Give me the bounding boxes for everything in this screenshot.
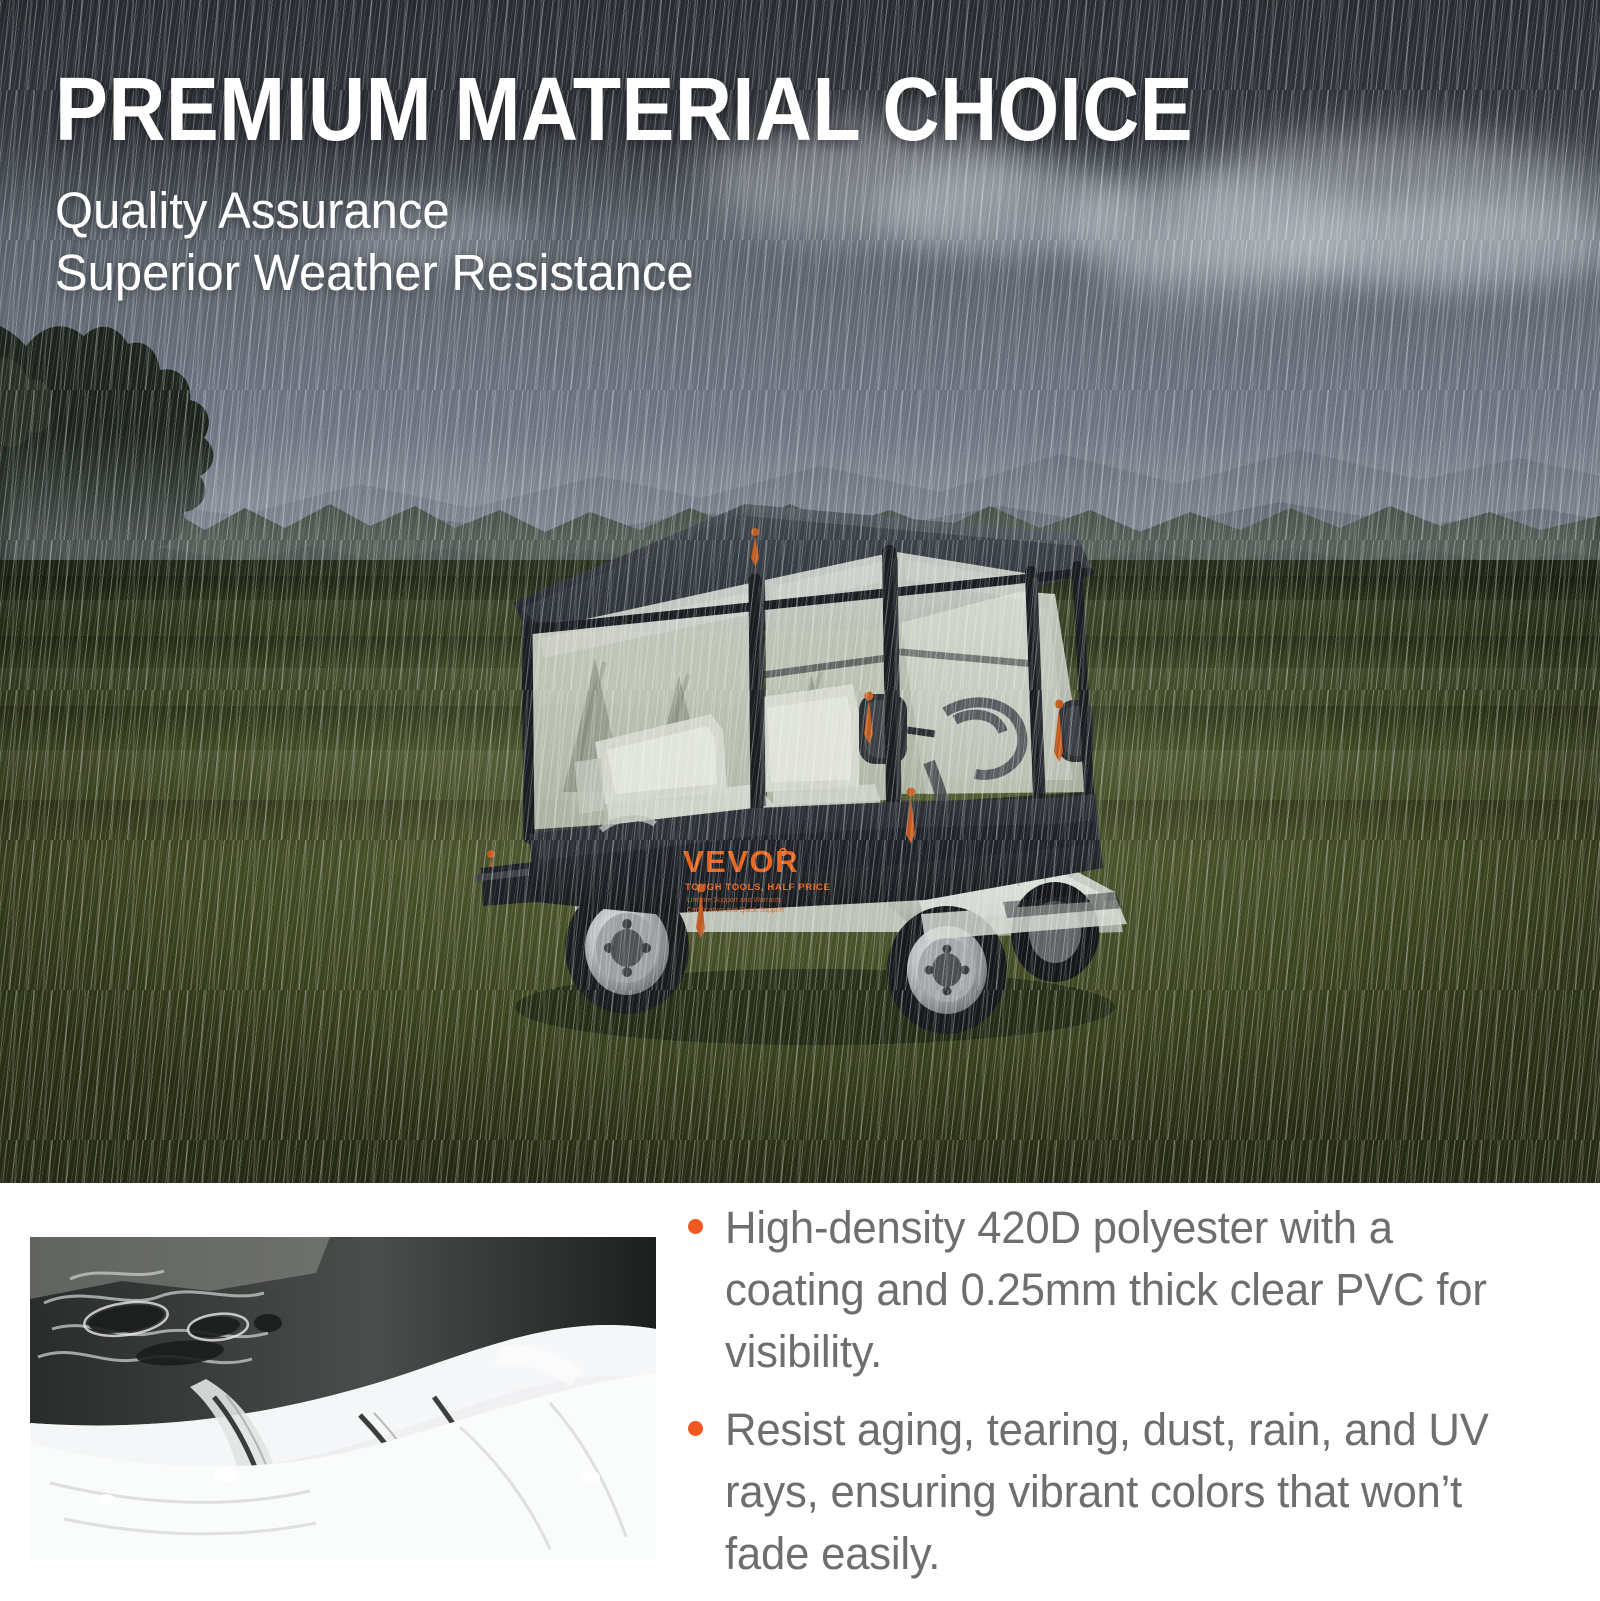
bullet-dot-icon [688,1219,703,1234]
product-feature-page: VEVOR TOUGH TOOLS, HALF PRICE Lifetime S… [0,0,1600,1600]
pvc-closeup-illustration [30,1237,656,1560]
feature-bullet-list: High-density 420D polyester with a coati… [688,1197,1568,1601]
list-item: Resist aging, tearing, dust, rain, and U… [688,1399,1568,1585]
hero-image: VEVOR TOUGH TOOLS, HALF PRICE Lifetime S… [0,0,1600,1183]
subtitle-line-1: Quality Assurance [55,180,1399,242]
feature-panel: High-density 420D polyester with a coati… [0,1183,1600,1600]
material-detail-photo [30,1237,656,1560]
feature-text: Resist aging, tearing, dust, rain, and U… [725,1399,1543,1585]
hero-text-block: PREMIUM MATERIAL CHOICE Quality Assuranc… [55,62,1455,304]
feature-text: High-density 420D polyester with a coati… [725,1197,1543,1383]
list-item: High-density 420D polyester with a coati… [688,1197,1568,1383]
bullet-dot-icon [688,1421,703,1436]
subtitle-line-2: Superior Weather Resistance [55,242,1399,304]
page-title: PREMIUM MATERIAL CHOICE [55,62,1287,158]
